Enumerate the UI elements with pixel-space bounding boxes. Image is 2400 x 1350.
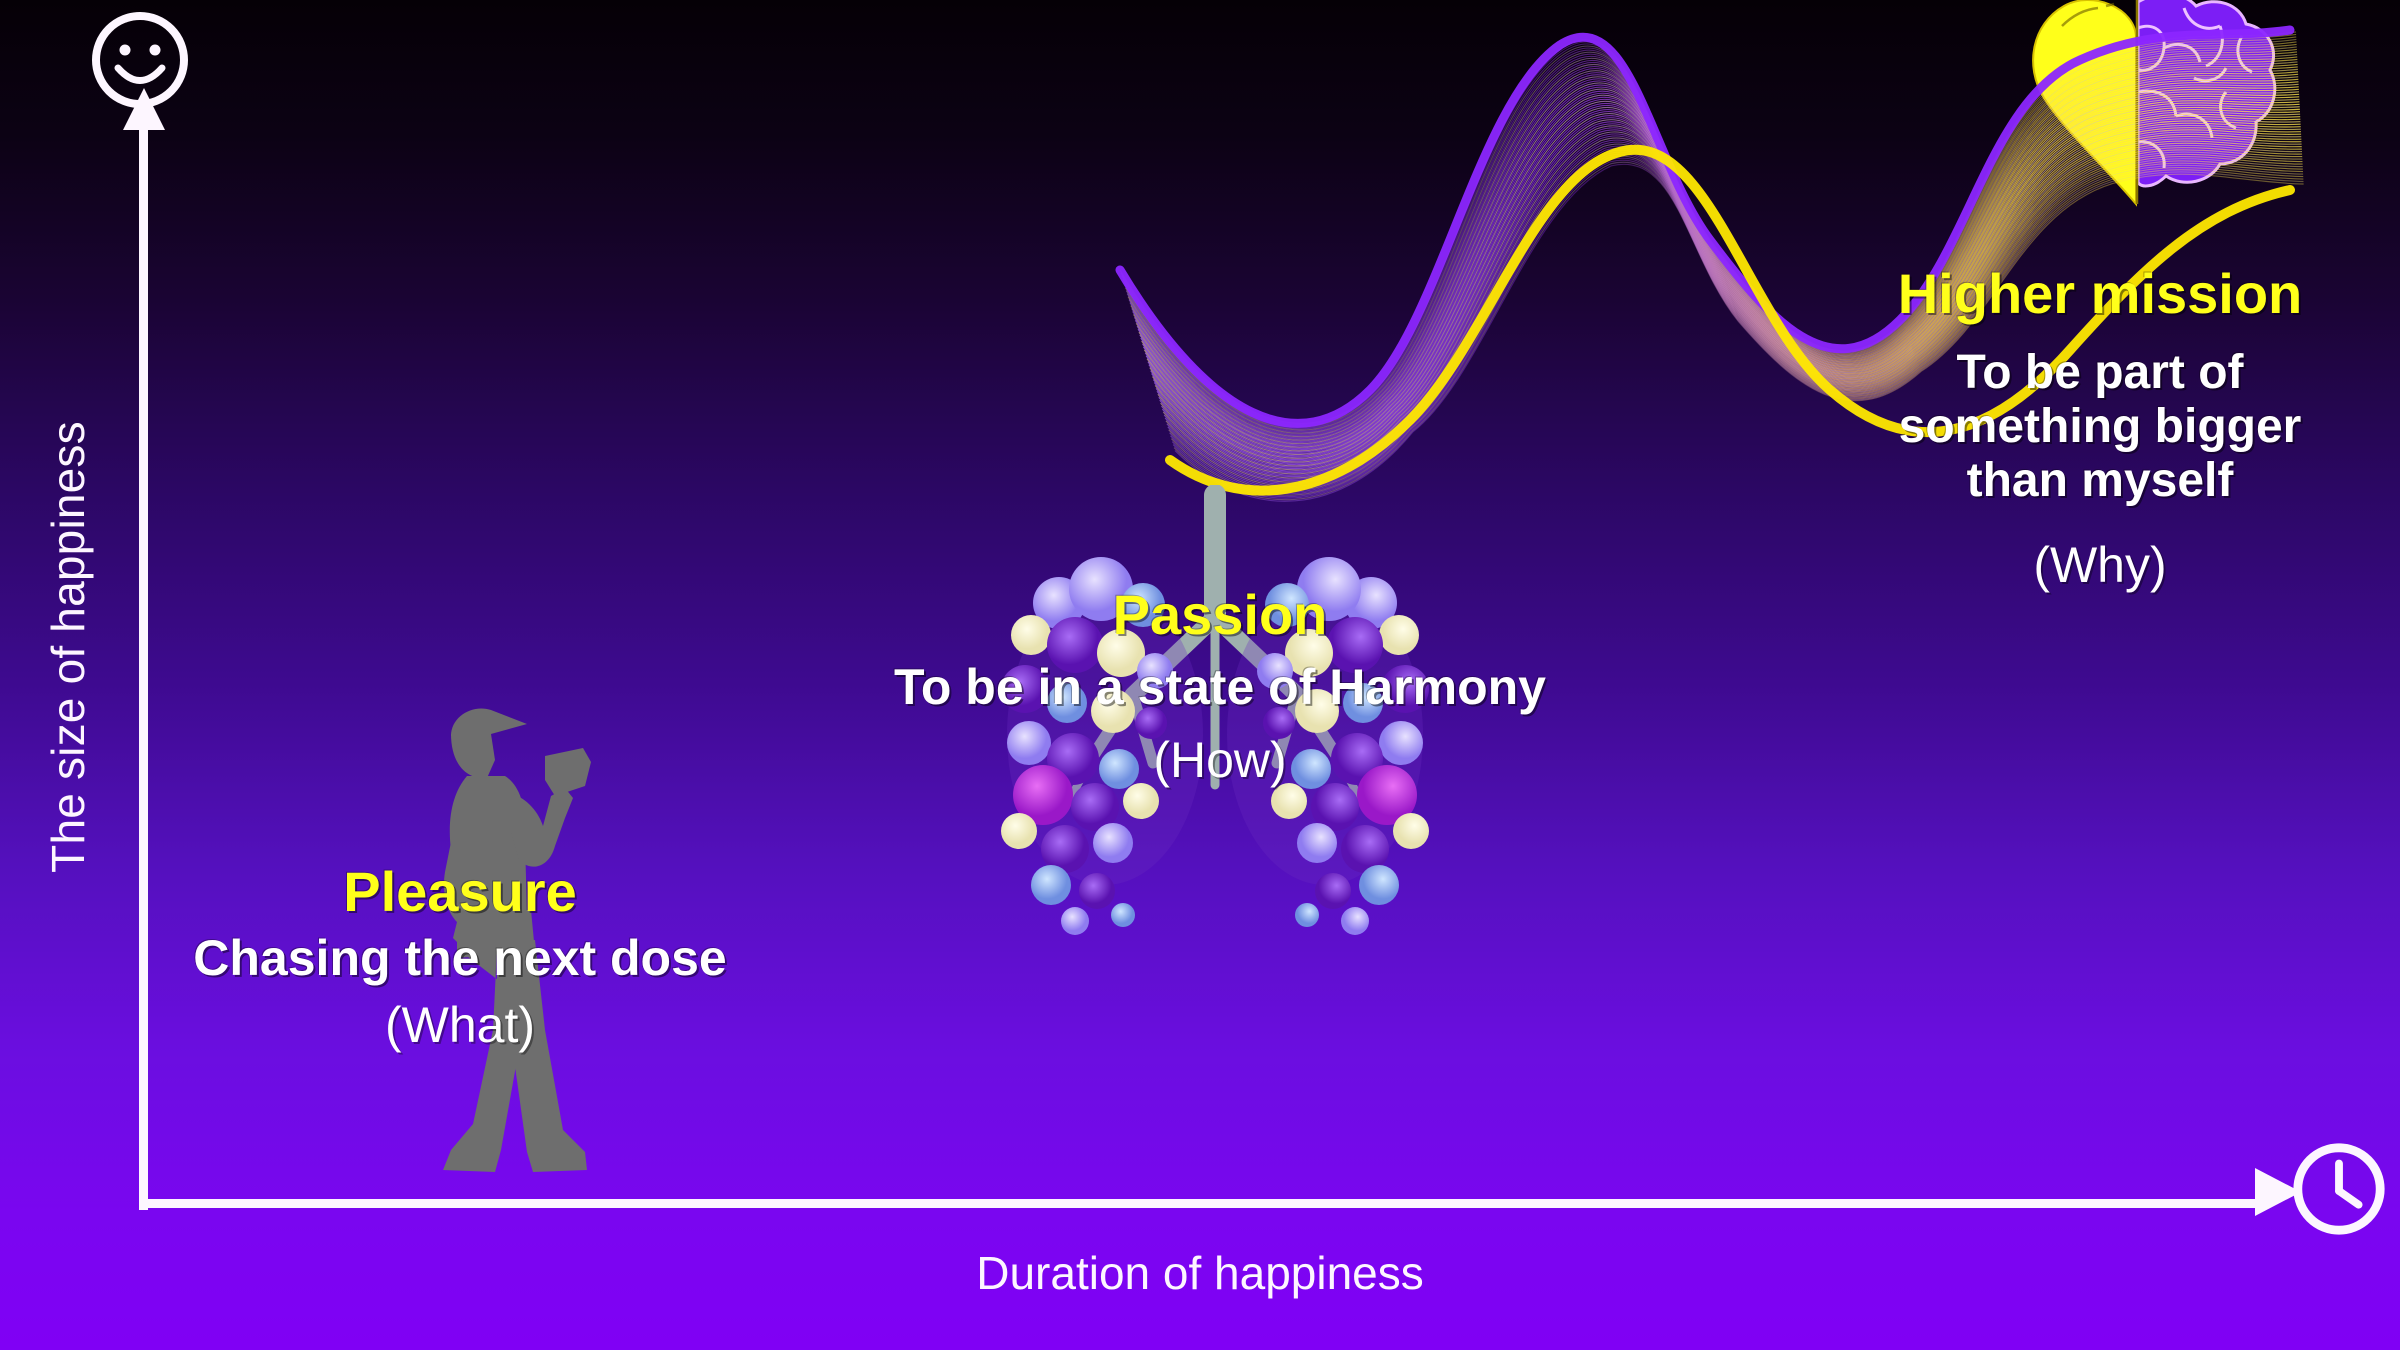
passion-title: Passion xyxy=(800,585,1640,645)
higher-mission-subtitle-line-1: To be part of xyxy=(1830,346,2370,400)
higher-mission-title: Higher mission xyxy=(1830,264,2370,324)
x-axis-line xyxy=(139,1199,2259,1208)
higher-mission-subtitle-line-3: than myself xyxy=(1830,454,2370,508)
higher-mission-subtitle-line-2: something bigger xyxy=(1830,400,2370,454)
passion-question: (How) xyxy=(800,733,1640,788)
y-axis-label: The size of happiness xyxy=(41,367,95,927)
smiley-face-icon xyxy=(88,8,192,112)
pleasure-title: Pleasure xyxy=(130,862,790,922)
higher-mission-subtitle: To be part of something bigger than myse… xyxy=(1830,346,2370,507)
pleasure-question: (What) xyxy=(130,998,790,1053)
stage-passion-label: Passion To be in a state of Harmony (How… xyxy=(800,585,1640,788)
pleasure-subtitle: Chasing the next dose xyxy=(130,930,790,986)
higher-mission-question: (Why) xyxy=(1830,538,2370,593)
stage-pleasure-label: Pleasure Chasing the next dose (What) xyxy=(130,862,790,1053)
happiness-chart-canvas: The size of happiness Duration of happin… xyxy=(0,0,2400,1350)
stage-higher-mission-label: Higher mission To be part of something b… xyxy=(1830,264,2370,593)
clock-icon xyxy=(2288,1138,2390,1240)
passion-subtitle: To be in a state of Harmony xyxy=(800,659,1640,715)
x-axis-label: Duration of happiness xyxy=(700,1246,1700,1300)
